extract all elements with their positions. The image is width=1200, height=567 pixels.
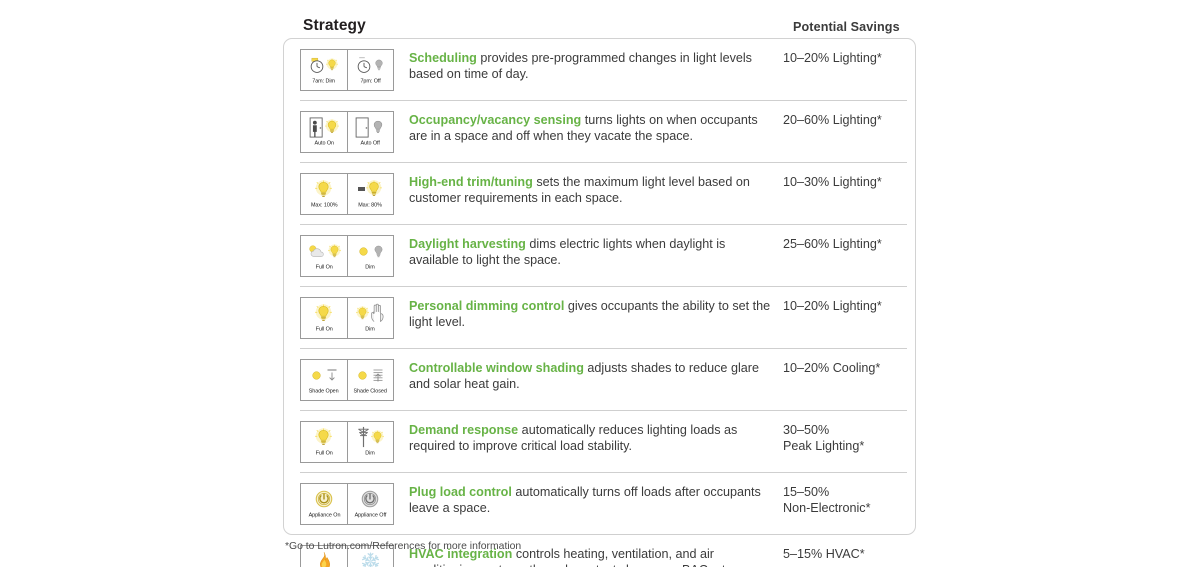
icon-caption: Dim	[366, 326, 375, 333]
potential-savings-value: 5–15% HVAC*	[772, 544, 907, 562]
bulb-max-100-icon	[301, 176, 346, 202]
icon-cell: Auto Off	[347, 112, 393, 152]
icon-caption: Appliance On	[308, 512, 340, 519]
icon-caption: Dim	[366, 450, 375, 457]
power-button-on-icon	[301, 486, 346, 512]
icon-caption: Appliance Off	[355, 512, 387, 519]
utility-pole-dim-icon	[348, 424, 393, 450]
table-row: 7am: Dim 7pm: OffScheduling provides pre…	[300, 39, 907, 101]
icon-cell: 7pm: Off	[347, 50, 393, 90]
icon-cell: Max: 100%	[301, 174, 347, 214]
strategy-icon-pair: Max: 100% Max: 80%	[300, 173, 394, 215]
icon-cell: Full On	[301, 236, 347, 276]
icon-cell: Full On	[301, 422, 347, 462]
strategy-description: Demand response automatically reduces li…	[394, 420, 772, 455]
strategy-term: High-end trim/tuning	[409, 175, 533, 189]
strategy-description: Scheduling provides pre-programmed chang…	[394, 48, 772, 83]
strategy-row-list: 7am: Dim 7pm: OffScheduling provides pre…	[300, 39, 907, 567]
icon-cell: Full On	[301, 298, 347, 338]
icon-cell: Appliance Off	[347, 484, 393, 524]
icon-cell: Shade Closed	[347, 360, 393, 400]
potential-savings-value: 10–20% Lighting*	[772, 296, 907, 314]
icon-cell: Max: 80%	[347, 174, 393, 214]
icon-caption: Full On	[315, 450, 332, 457]
table-row: Full On DimDaylight harvesting dims elec…	[300, 225, 907, 287]
icon-caption: Full On	[315, 264, 332, 271]
strategy-description: Controllable window shading adjusts shad…	[394, 358, 772, 393]
cloudy-sun-full-on-icon	[301, 238, 346, 264]
potential-savings-value: 15–50% Non-Electronic*	[772, 482, 907, 517]
strategy-description: High-end trim/tuning sets the maximum li…	[394, 172, 772, 207]
strategy-term: Daylight harvesting	[409, 237, 526, 251]
strategy-icon-pair: Appliance On Appliance Off	[300, 483, 394, 525]
column-header-strategy: Strategy	[303, 17, 366, 35]
occupant-doorway-on-icon	[301, 114, 346, 140]
strategy-term: Demand response	[409, 423, 518, 437]
empty-doorway-off-icon	[348, 114, 393, 140]
strategy-icon-pair: Full On Dim	[300, 235, 394, 277]
icon-cell: Shade Open	[301, 360, 347, 400]
strategy-icon-pair: Auto On Auto Off	[300, 111, 394, 153]
bright-sun-dim-icon	[348, 238, 393, 264]
strategy-icon-pair: Shade Open Shade Closed	[300, 359, 394, 401]
clock-off-bulb-icon	[348, 52, 393, 78]
bulb-full-on-icon	[301, 424, 346, 450]
icon-caption: Shade Closed	[354, 388, 387, 395]
strategy-icon-pair: 7am: Dim 7pm: Off	[300, 49, 394, 91]
icon-caption: Max: 100%	[311, 202, 338, 209]
potential-savings-value: 20–60% Lighting*	[772, 110, 907, 128]
bulb-full-on-icon	[301, 300, 346, 326]
icon-caption: Shade Open	[309, 388, 339, 395]
strategy-term: Scheduling	[409, 51, 477, 65]
bulb-max-80-icon	[348, 176, 393, 202]
icon-cell: Dim	[347, 236, 393, 276]
icon-cell: Dim	[347, 298, 393, 338]
shade-open-sun-icon	[301, 362, 346, 388]
icon-cell: Auto On	[301, 112, 347, 152]
table-row: Auto On Auto OffOccupancy/vacancy sensin…	[300, 101, 907, 163]
potential-savings-value: 10–30% Lighting*	[772, 172, 907, 190]
strategy-description: Occupancy/vacancy sensing turns lights o…	[394, 110, 772, 145]
strategy-description: Daylight harvesting dims electric lights…	[394, 234, 772, 269]
strategy-term: Personal dimming control	[409, 299, 564, 313]
strategy-description: Plug load control automatically turns of…	[394, 482, 772, 517]
table-row: Appliance On Appliance OffPlug load cont…	[300, 473, 907, 535]
clock-dim-bulb-icon	[301, 52, 346, 78]
strategy-term: Controllable window shading	[409, 361, 584, 375]
icon-caption: 7pm: Off	[360, 78, 380, 85]
strategy-term: Plug load control	[409, 485, 512, 499]
potential-savings-value: 25–60% Lighting*	[772, 234, 907, 252]
column-header-potential-savings: Potential Savings	[782, 17, 900, 35]
table-row: Max: 100% Max: 80%High-end trim/tuning s…	[300, 163, 907, 225]
potential-savings-value: 10–20% Cooling*	[772, 358, 907, 376]
icon-caption: 7am: Dim	[313, 78, 336, 85]
icon-caption: Dim	[366, 264, 375, 271]
icon-cell: Appliance On	[301, 484, 347, 524]
shade-closed-sun-icon	[348, 362, 393, 388]
table-row: Full On DimPersonal dimming control give…	[300, 287, 907, 349]
icon-caption: Max: 80%	[359, 202, 383, 209]
strategies-card: 7am: Dim 7pm: OffScheduling provides pre…	[283, 38, 916, 535]
potential-savings-value: 30–50% Peak Lighting*	[772, 420, 907, 455]
table-row: Full On DimDemand response automatically…	[300, 411, 907, 473]
strategy-term: Occupancy/vacancy sensing	[409, 113, 581, 127]
table-row: Shade Open Shade ClosedControllable wind…	[300, 349, 907, 411]
energy-saving-strategies-table: Strategy Potential Savings 7am: Dim 7p	[0, 0, 1200, 567]
hand-dimmer-icon	[348, 300, 393, 326]
icon-caption: Auto Off	[361, 140, 380, 147]
icon-cell: Dim	[347, 422, 393, 462]
strategy-icon-pair: Full On Dim	[300, 421, 394, 463]
potential-savings-value: 10–20% Lighting*	[772, 48, 907, 66]
power-button-off-icon	[348, 486, 393, 512]
strategy-description: Personal dimming control gives occupants…	[394, 296, 772, 331]
icon-cell: 7am: Dim	[301, 50, 347, 90]
footnote-reference: *Go to Lutron.com/References for more in…	[285, 541, 521, 552]
icon-caption: Auto On	[314, 140, 333, 147]
icon-caption: Full On	[315, 326, 332, 333]
strategy-icon-pair: Full On Dim	[300, 297, 394, 339]
